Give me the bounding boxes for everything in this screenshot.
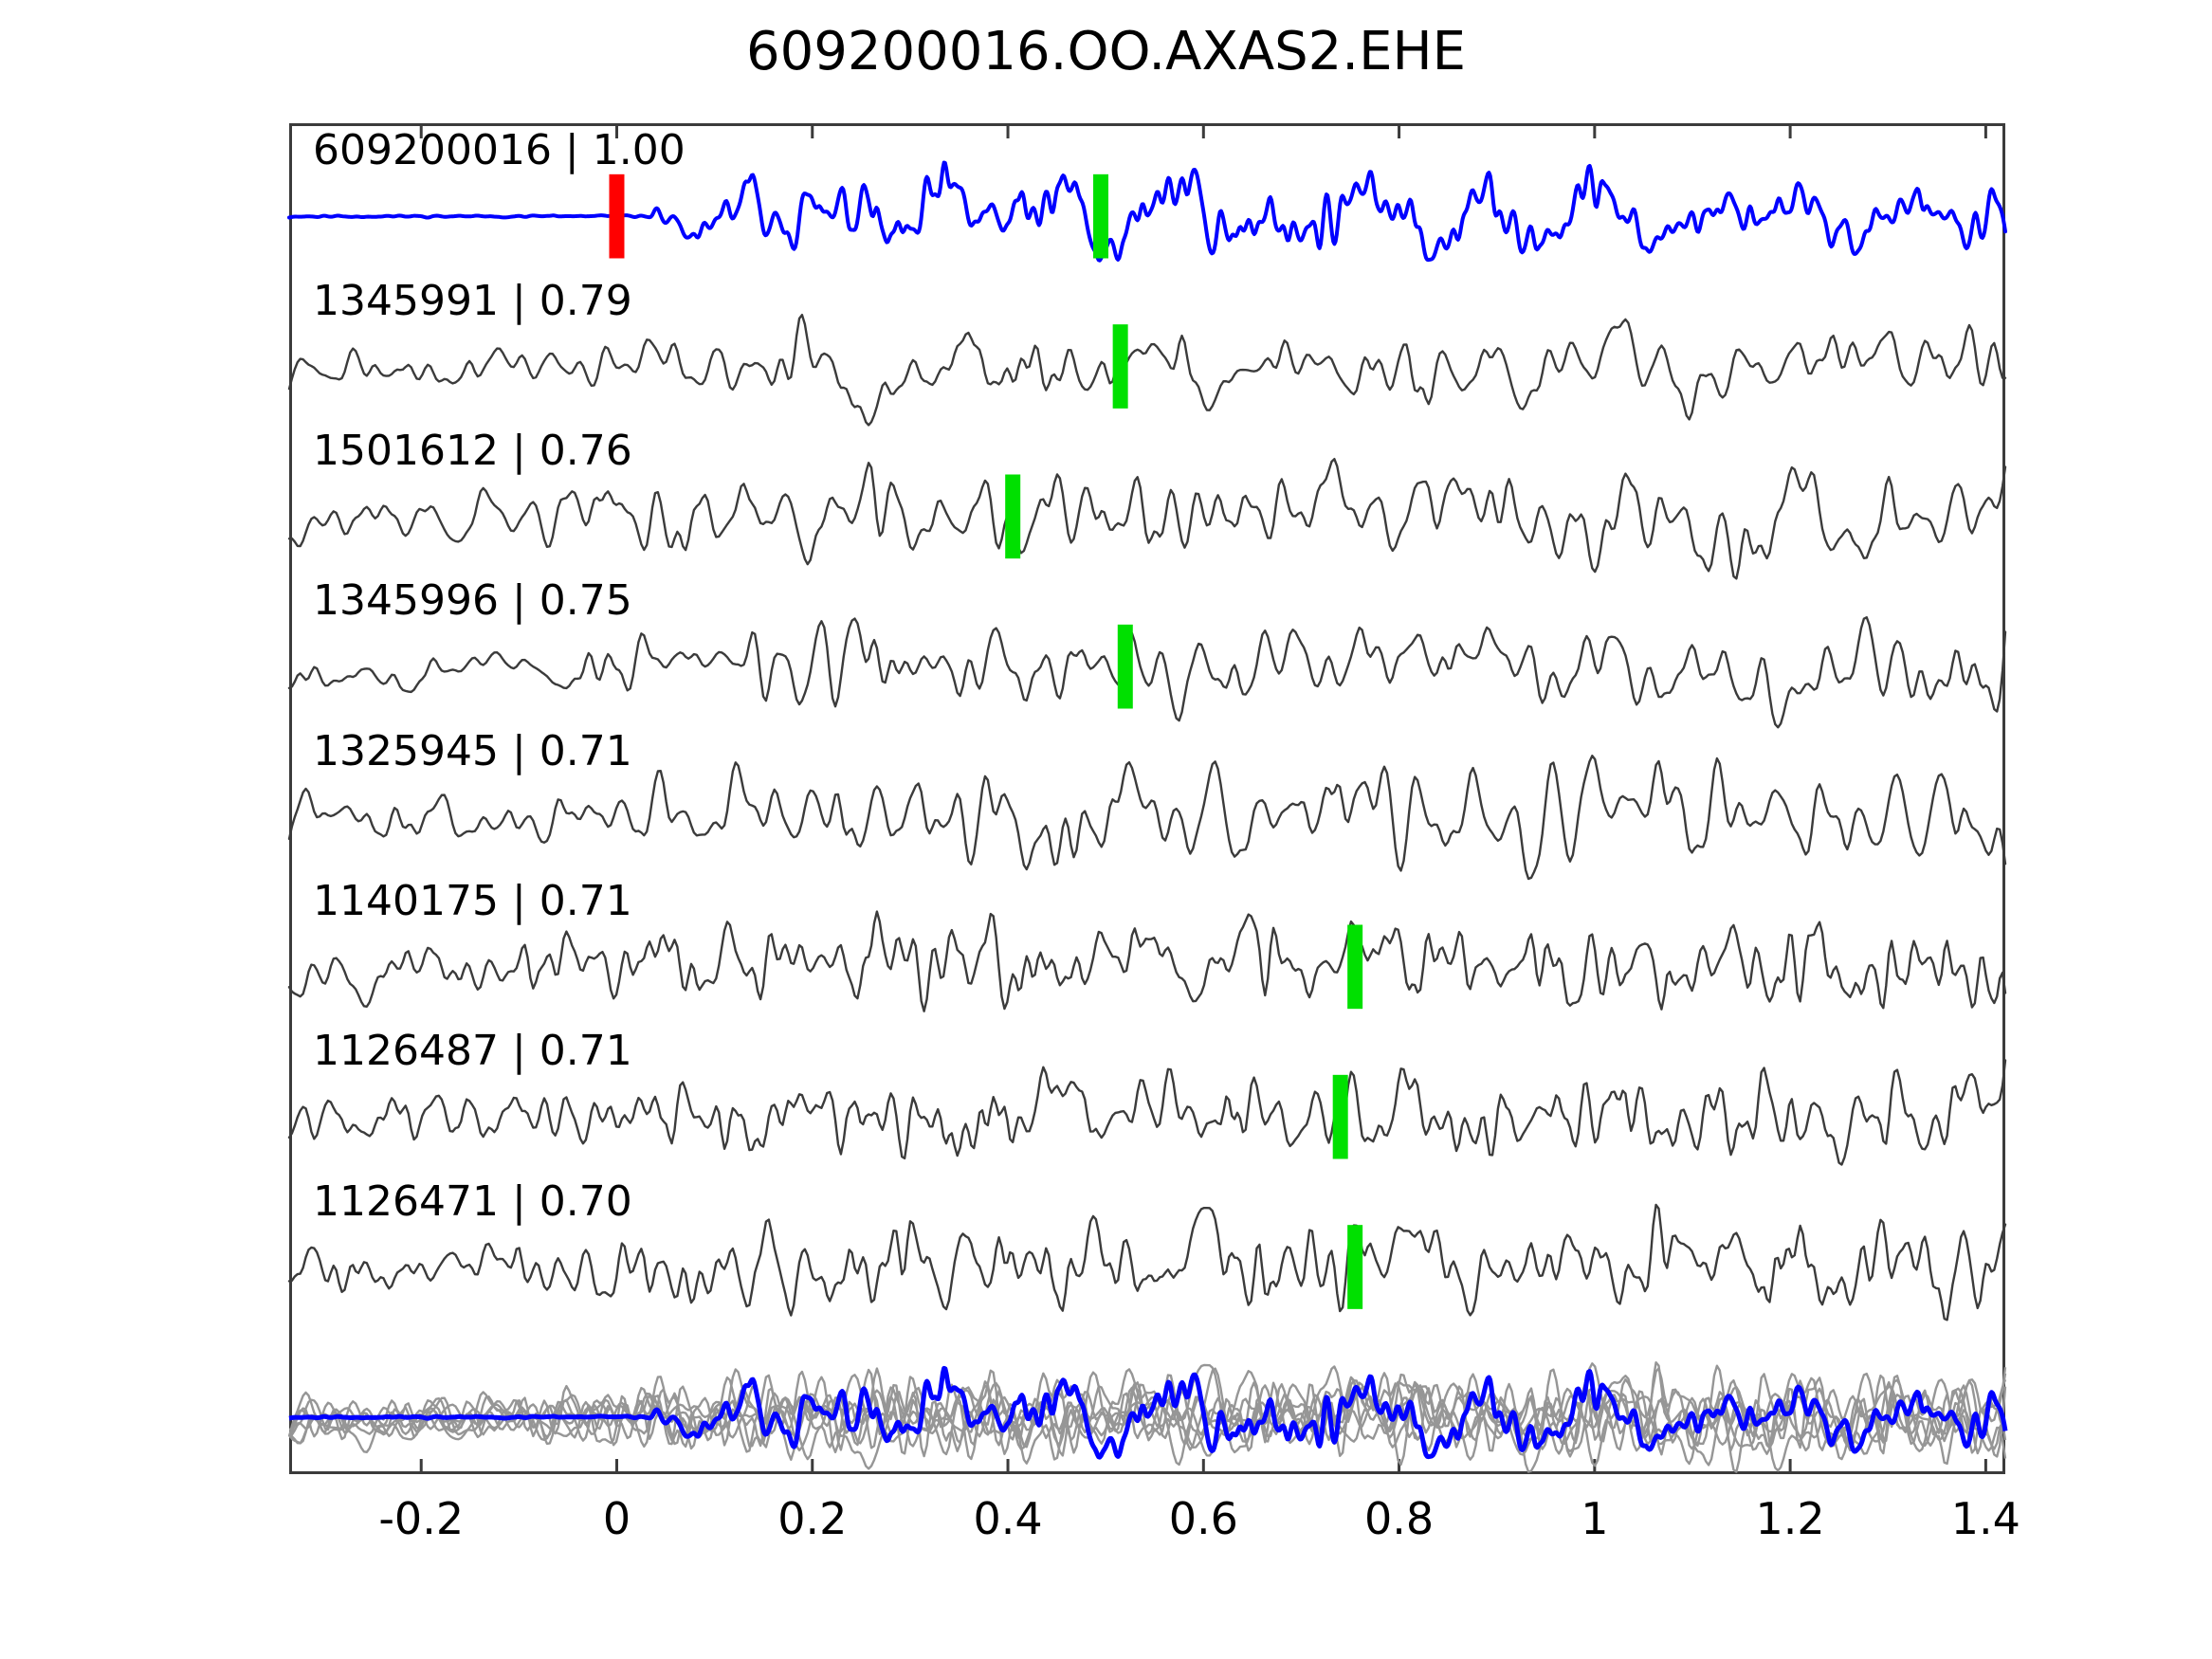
trace-label-1126471: 1126471 | 0.70 [313,1177,632,1226]
x-tick-label: 0 [603,1493,631,1544]
trace-lines [289,163,2005,1472]
trace-1126487 [289,1060,2005,1164]
x-tick-label: 1 [1581,1493,1608,1544]
trace-label-609200016: 609200016 | 1.00 [313,126,686,174]
detection-pick-marker [1347,1225,1362,1309]
detection-pick-marker [1113,324,1128,409]
trace-1140175 [289,912,2005,1012]
trace-609200016 [289,163,2005,261]
figure-canvas: 609200016.OO.AXAS2.EHE 609200016 | 1.001… [0,0,2212,1659]
template-pick-marker [610,174,625,259]
trace-label-1325945: 1325945 | 0.71 [313,727,632,775]
x-tick-label: 0.8 [1364,1493,1434,1544]
x-tick-label: 1.4 [1951,1493,2020,1544]
trace-label-1140175: 1140175 | 0.71 [313,877,632,925]
template-secondary-marker [1093,174,1108,259]
detection-pick-marker [1005,475,1020,559]
trace-1501612 [289,459,2005,578]
x-tick-label: 0.2 [777,1493,847,1544]
x-tick-label: 1.2 [1756,1493,1825,1544]
trace-label-1501612: 1501612 | 0.76 [313,427,632,475]
trace-1345996 [289,617,2005,727]
x-axis-tick-labels: -0.200.20.40.60.811.21.4 [0,1493,2212,1559]
detection-pick-marker [1118,625,1133,709]
waveform-plot [0,0,2212,1659]
x-tick-label: 0.6 [1169,1493,1238,1544]
detection-pick-marker [1333,1075,1348,1159]
trace-label-1345996: 1345996 | 0.75 [313,576,632,625]
trace-1345991 [289,315,2005,425]
detection-pick-marker [1347,925,1362,1010]
trace-label-1345991: 1345991 | 0.79 [313,277,632,325]
x-tick-label: 0.4 [973,1493,1042,1544]
x-tick-label: -0.2 [378,1493,464,1544]
trace-label-1126487: 1126487 | 0.71 [313,1027,632,1075]
